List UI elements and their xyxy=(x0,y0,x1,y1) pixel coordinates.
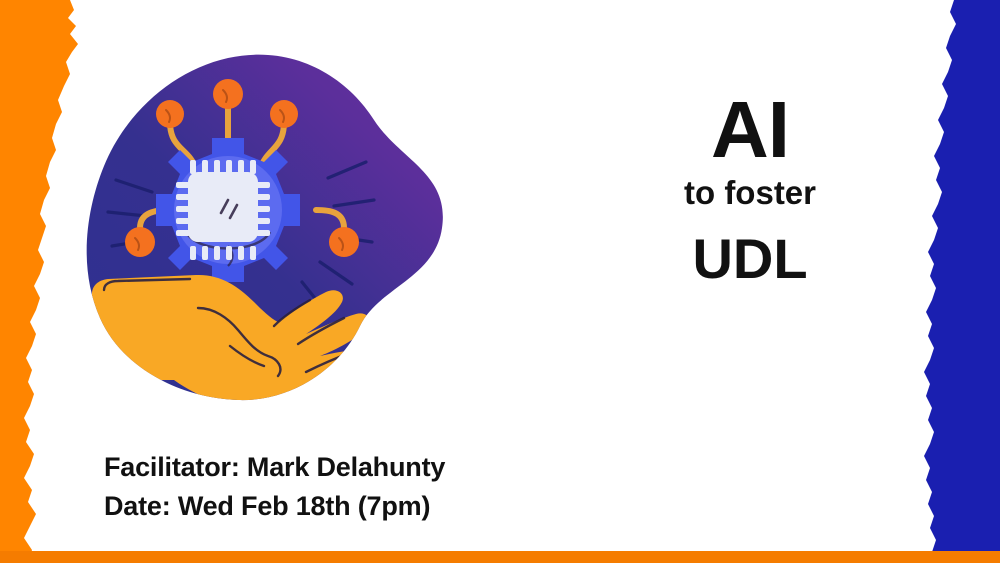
page-title-secondary: UDL xyxy=(600,225,900,292)
date-line: Date: Wed Feb 18th (7pm) xyxy=(104,487,445,526)
blue-torn-edge xyxy=(920,0,1000,563)
page-title-main: AI xyxy=(600,92,900,168)
credits-block: Facilitator: Mark Delahunty Date: Wed Fe… xyxy=(104,448,445,526)
slide-canvas: AI to foster UDL Facilitator: Mark Delah… xyxy=(0,0,1000,563)
ai-in-hand-illustration xyxy=(78,50,448,410)
page-title-subtitle: to foster xyxy=(600,172,900,213)
title-block: AI to foster UDL xyxy=(600,92,900,292)
orange-bottom-bar xyxy=(0,551,1000,563)
facilitator-line: Facilitator: Mark Delahunty xyxy=(104,448,445,487)
open-hand-illustration xyxy=(92,275,370,410)
